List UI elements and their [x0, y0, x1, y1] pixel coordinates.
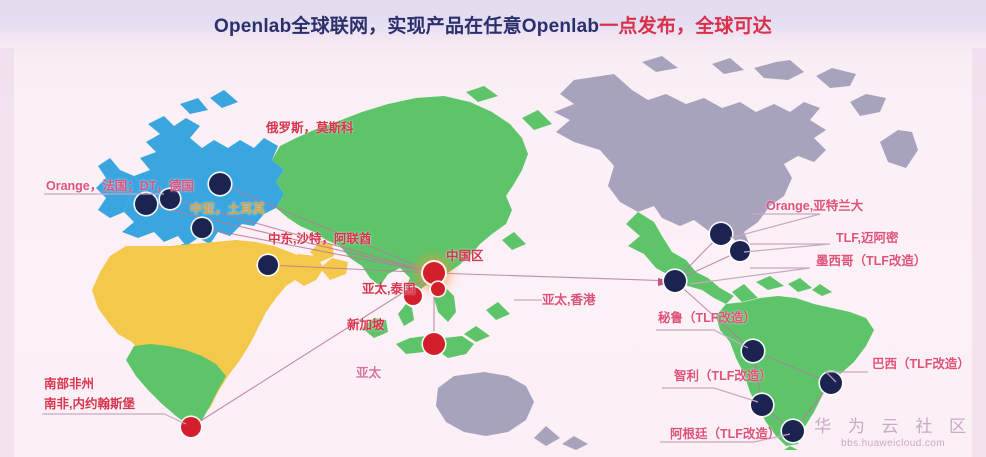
- node-argentina[interactable]: [782, 420, 804, 442]
- map-label-peru-tlf: 秘鲁（TLF改造）: [658, 311, 756, 325]
- map-label-chile-tlf: 智利（TLF改造）: [674, 369, 772, 383]
- slide-canvas: Openlab全球联网，实现产品在任意Openlab一点发布，全球可达: [0, 0, 986, 457]
- map-label-argentina-tlf: 阿根廷（TLF改造）: [670, 427, 780, 441]
- map-label-south-africa-joburg: 南非,内约翰斯堡: [44, 397, 135, 411]
- watermark: 华 为 云 社 区 bbs.huaweicloud.com: [814, 418, 972, 449]
- landmass-north-america: [554, 56, 918, 246]
- landmass-europe: [96, 90, 284, 262]
- map-label-orange-atlanta: Orange,亚特兰大: [766, 199, 863, 213]
- node-miami[interactable]: [730, 241, 750, 261]
- node-hongkong[interactable]: [431, 282, 445, 296]
- map-label-apac-thailand: 亚太,泰国: [362, 282, 415, 296]
- watermark-title: 华 为 云 社 区: [814, 418, 972, 437]
- node-turkey[interactable]: [209, 173, 231, 195]
- map-label-brazil-tlf: 巴西（TLF改造）: [872, 357, 970, 371]
- left-edge-bar: [0, 0, 14, 457]
- node-france[interactable]: [135, 193, 157, 215]
- node-chile[interactable]: [751, 394, 773, 416]
- node-singapore[interactable]: [423, 333, 445, 355]
- map-label-mexico-tlf: 墨西哥（TLF改造）: [816, 254, 926, 268]
- map-label-southern-africa: 南部非州: [44, 377, 94, 391]
- page-title-accent: 一点发布，全球可达: [599, 16, 772, 37]
- map-label-middle-east: 中东,沙特，阿联酋: [268, 232, 371, 246]
- map-label-russia-moscow: 俄罗斯，莫斯科: [266, 121, 354, 135]
- node-peru[interactable]: [742, 340, 764, 362]
- page-title: Openlab全球联网，实现产品在任意Openlab一点发布，全球可达: [0, 11, 986, 38]
- node-johannesburg[interactable]: [181, 417, 201, 437]
- node-atlanta[interactable]: [710, 223, 732, 245]
- map-label-apac: 亚太: [356, 366, 381, 380]
- node-brazil[interactable]: [820, 372, 842, 394]
- watermark-url: bbs.huaweicloud.com: [814, 438, 972, 449]
- page-title-primary: Openlab全球联网，实现产品在任意Openlab: [214, 16, 599, 37]
- node-middle-east[interactable]: [258, 255, 278, 275]
- map-label-tlf-miami: TLF,迈阿密: [836, 231, 899, 245]
- node-italy-south[interactable]: [192, 218, 212, 238]
- map-label-orange-france-dt-germany: Orange，法国；DT，德国: [46, 179, 194, 193]
- map-label-china-region: 中国区: [446, 249, 484, 263]
- right-edge-bar: [972, 0, 986, 457]
- map-label-central-asia-turkey: 中亚，土耳其: [190, 202, 265, 216]
- map-label-apac-hongkong: 亚太,香港: [542, 293, 595, 307]
- world-map: 俄罗斯，莫斯科Orange，法国；DT，德国中亚，土耳其中东,沙特，阿联酋中国区…: [14, 46, 972, 451]
- map-label-singapore: 新加坡: [347, 318, 385, 332]
- node-mexico[interactable]: [664, 270, 686, 292]
- landmass-oceania-antarctica: [436, 372, 588, 450]
- title-band: Openlab全球联网，实现产品在任意Openlab一点发布，全球可达: [0, 0, 986, 48]
- node-china[interactable]: [423, 262, 445, 284]
